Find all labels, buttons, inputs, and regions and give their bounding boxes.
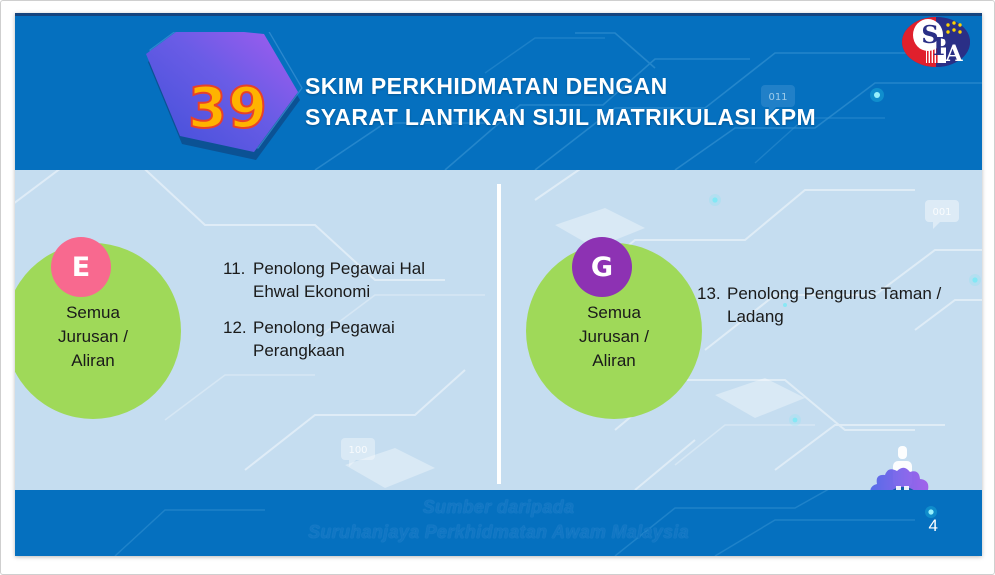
- list-item-number: 11.: [223, 257, 253, 303]
- footer-source-text: Sumber daripada Suruhanjaya Perkhidmatan…: [15, 495, 982, 545]
- scheme-list-e: 11. Penolong Pegawai Hal Ehwal Ekonomi 1…: [223, 257, 473, 375]
- gear-person-icon: [858, 434, 948, 490]
- footer-line-1: Sumber daripada: [15, 495, 982, 520]
- slide-canvas: 011 39: [15, 13, 982, 556]
- category-circle-e-label: Semua Jurusan / Aliran: [15, 301, 181, 373]
- list-item: 11. Penolong Pegawai Hal Ehwal Ekonomi: [223, 257, 473, 303]
- category-badge-g: G: [572, 237, 632, 297]
- list-item-text: Penolong Pengurus Taman / Ladang: [727, 282, 962, 328]
- slide-header: 011 39: [15, 13, 982, 170]
- category-circle-g-label: Semua Jurusan / Aliran: [526, 301, 702, 373]
- slide-footer: Sumber daripada Suruhanjaya Perkhidmatan…: [15, 490, 982, 556]
- title-line-1: SKIM PERKHIDMATAN DENGAN: [305, 71, 925, 102]
- slide-number-hexagon: 39: [138, 32, 318, 170]
- page-frame: 011 39: [0, 0, 995, 575]
- list-item: 13. Penolong Pengurus Taman / Ladang: [697, 282, 962, 328]
- spa-logo-letter-a: A: [944, 41, 963, 67]
- column-e: Semua Jurusan / Aliran E 11. Penolong Pe…: [15, 170, 497, 490]
- slide-title: SKIM PERKHIDMATAN DENGAN SYARAT LANTIKAN…: [305, 71, 925, 133]
- page-number: 4: [929, 516, 938, 536]
- list-item-number: 13.: [697, 282, 727, 328]
- list-item-text: Penolong Pegawai Hal Ehwal Ekonomi: [253, 257, 473, 303]
- title-line-2: SYARAT LANTIKAN SIJIL MATRIKULASI KPM: [305, 102, 925, 133]
- slide-number-text: 39: [138, 76, 318, 141]
- footer-line-2: Suruhanjaya Perkhidmatan Awam Malaysia: [15, 520, 982, 545]
- slide-body: 001 100: [15, 170, 982, 490]
- spa-logo: S P A: [900, 15, 972, 71]
- category-badge-e: E: [51, 237, 111, 297]
- list-item: 12. Penolong Pegawai Perangkaan: [223, 316, 473, 362]
- scheme-list-g: 13. Penolong Pengurus Taman / Ladang: [697, 282, 962, 341]
- list-item-number: 12.: [223, 316, 253, 362]
- list-item-text: Penolong Pegawai Perangkaan: [253, 316, 473, 362]
